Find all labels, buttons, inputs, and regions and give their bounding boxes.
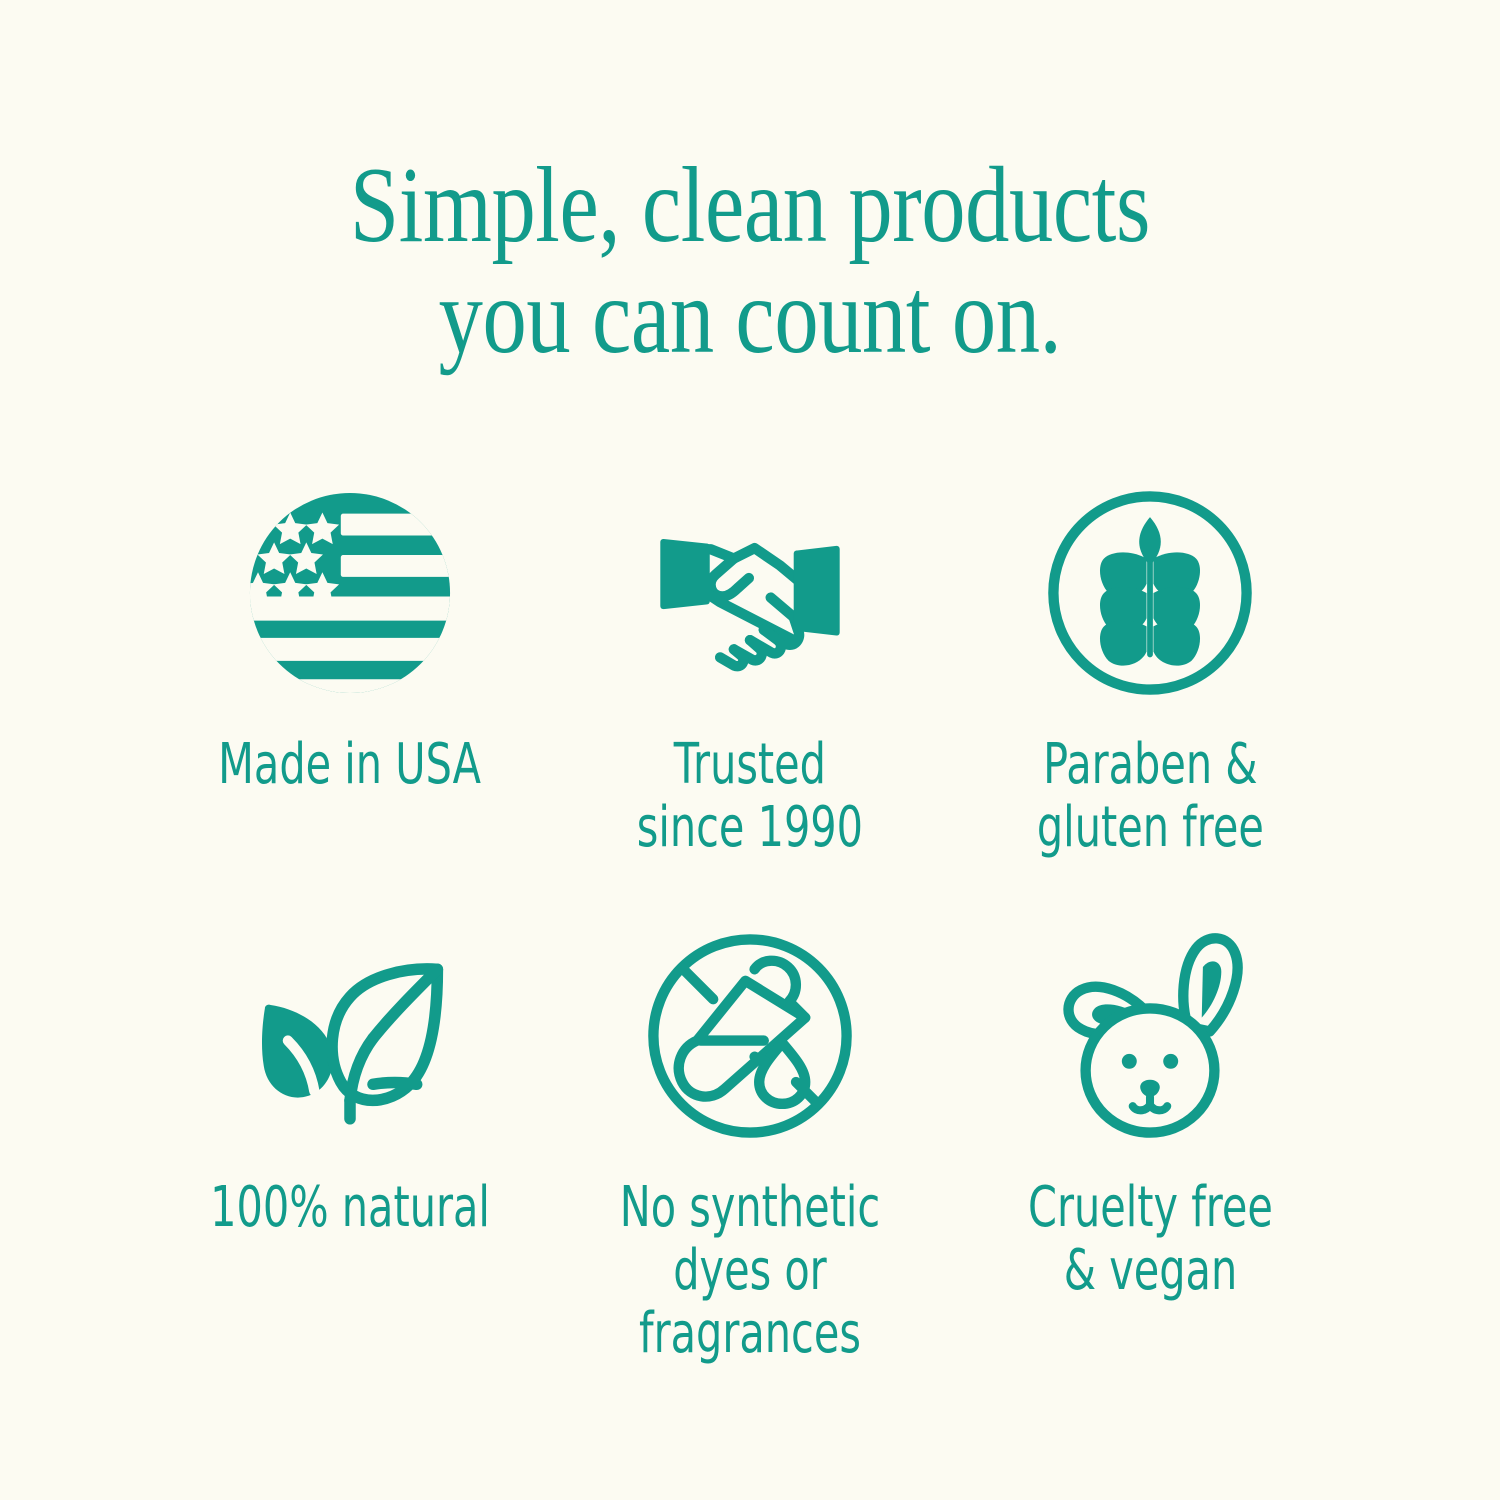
no-test-tube-icon <box>635 921 865 1151</box>
page-title: Simple, clean products you can count on. <box>135 150 1365 372</box>
badge-trusted-since: Trusted since 1990 <box>550 478 950 859</box>
badge-label: Trusted since 1990 <box>637 734 863 859</box>
promo-graphic: Simple, clean products you can count on. <box>0 0 1500 1500</box>
badge-label: Made in USA <box>219 734 482 797</box>
headline-line-2: you can count on. <box>135 261 1365 372</box>
badge-paraben-gluten-free: Paraben & gluten free <box>950 478 1350 859</box>
badge-label: No synthetic dyes or fragrances <box>620 1177 880 1365</box>
usa-flag-circle-icon <box>235 478 465 708</box>
badge-grid: Made in USA <box>150 478 1350 1366</box>
badge-cruelty-free-vegan: Cruelty free & vegan <box>950 921 1350 1365</box>
rabbit-head-icon <box>1035 921 1265 1151</box>
leaves-icon <box>235 921 465 1151</box>
badge-label: 100% natural <box>210 1177 490 1240</box>
badge-made-in-usa: Made in USA <box>150 478 550 859</box>
badge-label: Paraben & gluten free <box>1037 734 1264 859</box>
badge-100-natural: 100% natural <box>150 921 550 1365</box>
wheat-circle-icon <box>1035 478 1265 708</box>
headline-line-1: Simple, clean products <box>135 150 1365 261</box>
badge-label: Cruelty free & vegan <box>1028 1177 1273 1302</box>
badge-no-synthetic-dyes: No synthetic dyes or fragrances <box>550 921 950 1365</box>
handshake-icon <box>635 478 865 708</box>
